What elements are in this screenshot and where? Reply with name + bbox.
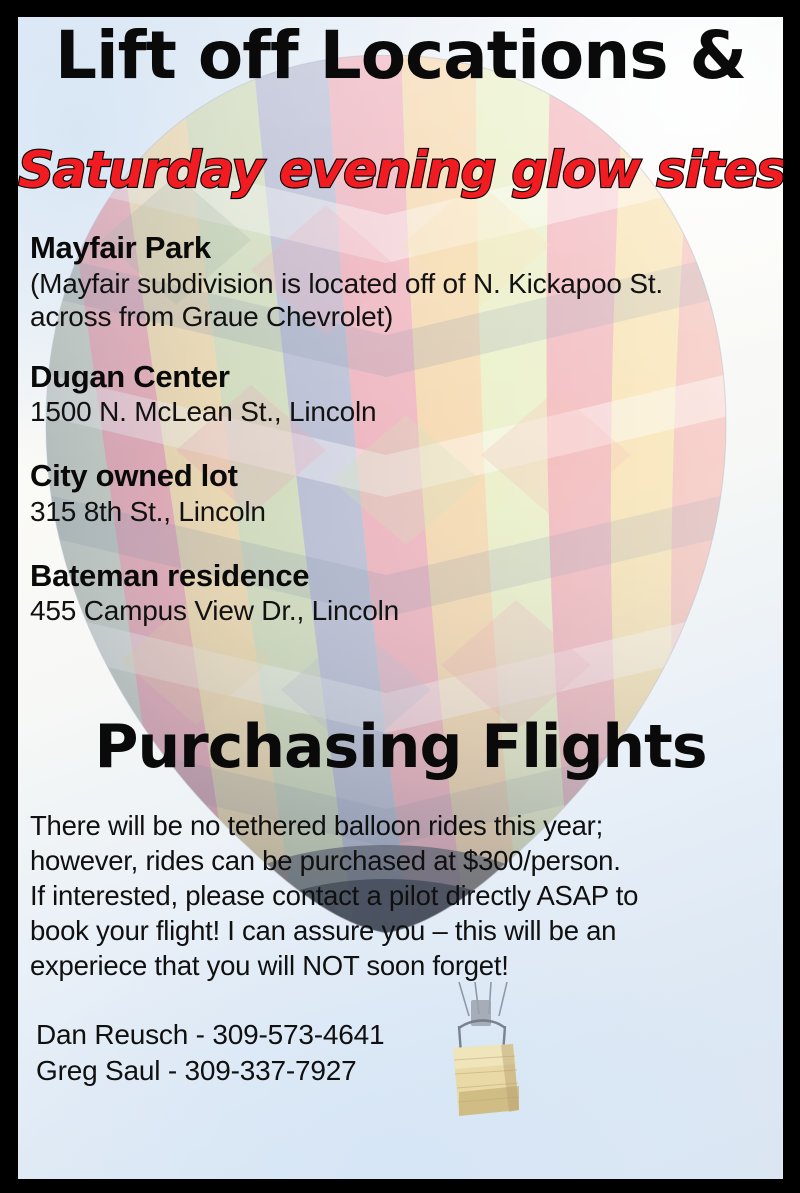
paragraph-line: experiece that you will NOT soon forget!	[30, 949, 782, 984]
contact-list: Dan Reusch - 309-573-4641 Greg Saul - 30…	[36, 1017, 384, 1090]
paragraph-line: book your flight! I can assure you – thi…	[30, 914, 782, 949]
venue-address-line: 455 Campus View Dr., Lincoln	[30, 594, 780, 627]
section-title-purchasing-flights: Purchasing Flights	[18, 717, 783, 777]
venue-name: Bateman residence	[30, 558, 780, 595]
venue-name: Dugan Center	[30, 359, 780, 396]
list-item: City owned lot 315 8th St., Lincoln	[30, 458, 780, 528]
venue-address-line: across from Graue Chevrolet)	[30, 300, 780, 333]
flights-paragraph: There will be no tethered balloon rides …	[30, 809, 782, 984]
list-item: Mayfair Park (Mayfair subdivision is loc…	[30, 230, 780, 333]
paragraph-line: If interested, please contact a pilot di…	[30, 879, 782, 914]
venue-address-line: (Mayfair subdivision is located off of N…	[30, 267, 780, 300]
paragraph-line: There will be no tethered balloon rides …	[30, 809, 782, 844]
venue-name: City owned lot	[30, 458, 780, 495]
poster-content: Lift off Locations & Saturday evening gl…	[18, 17, 783, 1179]
contact-entry: Dan Reusch - 309-573-4641	[36, 1017, 384, 1053]
contact-entry: Greg Saul - 309-337-7927	[36, 1053, 384, 1089]
subtitle-glow-sites: Saturday evening glow sites	[18, 145, 783, 195]
venue-address-line: 315 8th St., Lincoln	[30, 495, 780, 528]
venue-list: Mayfair Park (Mayfair subdivision is loc…	[30, 230, 780, 643]
page-title: Lift off Locations &	[18, 23, 783, 89]
poster-canvas: Lift off Locations & Saturday evening gl…	[18, 17, 783, 1179]
list-item: Dugan Center 1500 N. McLean St., Lincoln	[30, 359, 780, 429]
venue-address-line: 1500 N. McLean St., Lincoln	[30, 395, 780, 428]
list-item: Bateman residence 455 Campus View Dr., L…	[30, 558, 780, 628]
venue-name: Mayfair Park	[30, 230, 780, 267]
paragraph-line: however, rides can be purchased at $300/…	[30, 844, 782, 879]
poster-root: Lift off Locations & Saturday evening gl…	[0, 0, 800, 1193]
